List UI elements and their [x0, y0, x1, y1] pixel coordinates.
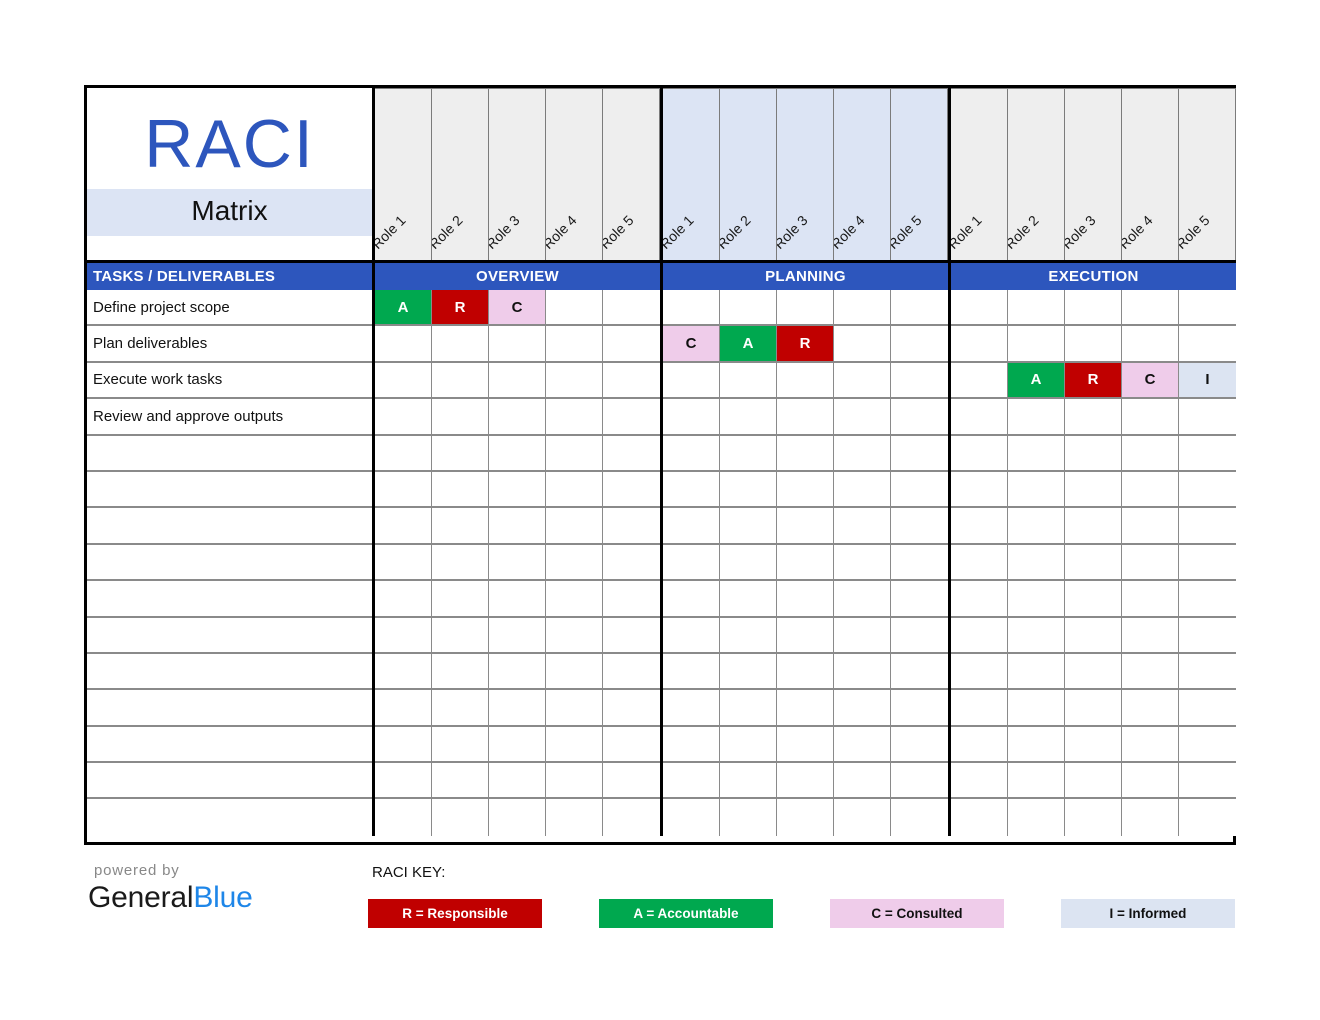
raci-cell[interactable] — [1122, 799, 1179, 835]
raci-cell[interactable] — [1122, 654, 1179, 690]
raci-cell[interactable] — [663, 290, 720, 326]
raci-cell[interactable] — [951, 690, 1008, 726]
subtitle-band: Matrix — [87, 189, 372, 236]
role-header-label: Role 4 — [1122, 212, 1156, 252]
raci-cell[interactable] — [777, 763, 834, 799]
raci-cell[interactable] — [891, 290, 948, 326]
raci-cell[interactable] — [951, 799, 1008, 835]
role-header-label: Role 4 — [546, 212, 580, 252]
raci-cell[interactable] — [1008, 618, 1065, 654]
legend-item-c: C = Consulted — [830, 899, 1004, 928]
raci-cell[interactable] — [1122, 290, 1179, 326]
task-label-cell[interactable] — [87, 508, 372, 544]
role-header-execution-4[interactable]: Role 4 — [1122, 88, 1179, 260]
role-header-planning-1[interactable]: Role 1 — [663, 88, 720, 260]
raci-cell[interactable] — [603, 727, 660, 763]
raci-cell[interactable]: R — [777, 326, 834, 362]
raci-cell[interactable] — [489, 363, 546, 399]
powered-by-label: powered by — [94, 862, 348, 879]
raci-cell[interactable] — [1179, 290, 1236, 326]
role-header-planning-3[interactable]: Role 3 — [777, 88, 834, 260]
raci-cell[interactable] — [1179, 508, 1236, 544]
raci-cell[interactable] — [891, 472, 948, 508]
raci-cell[interactable] — [720, 581, 777, 617]
raci-cell[interactable] — [375, 508, 432, 544]
raci-cell[interactable] — [720, 472, 777, 508]
raci-cell[interactable] — [603, 436, 660, 472]
raci-cell[interactable] — [1065, 472, 1122, 508]
raci-cell[interactable] — [1122, 763, 1179, 799]
raci-cell[interactable] — [1008, 472, 1065, 508]
raci-matrix-page: RACI Matrix Role 1Role 2Role 3Role 4Role… — [0, 0, 1320, 1020]
title-block: RACI Matrix — [87, 88, 372, 260]
role-header-label: Role 1 — [663, 212, 697, 252]
raci-cell[interactable] — [777, 545, 834, 581]
raci-cell[interactable] — [1179, 545, 1236, 581]
raci-cell[interactable] — [1065, 654, 1122, 690]
raci-cell[interactable] — [1065, 763, 1122, 799]
raci-cell[interactable] — [663, 545, 720, 581]
role-header-execution-1[interactable]: Role 1 — [951, 88, 1008, 260]
raci-cell[interactable] — [663, 363, 720, 399]
role-header-planning-4[interactable]: Role 4 — [834, 88, 891, 260]
raci-cell[interactable] — [891, 763, 948, 799]
raci-cell[interactable] — [375, 399, 432, 435]
raci-cell[interactable] — [891, 545, 948, 581]
raci-cell[interactable] — [663, 436, 720, 472]
raci-cell[interactable] — [777, 399, 834, 435]
raci-cell[interactable] — [720, 618, 777, 654]
raci-cell[interactable] — [489, 436, 546, 472]
raci-cell[interactable] — [891, 363, 948, 399]
raci-cell[interactable] — [603, 799, 660, 835]
raci-cell[interactable] — [891, 618, 948, 654]
raci-cell[interactable] — [432, 763, 489, 799]
role-header-label: Role 2 — [720, 212, 754, 252]
legend-item-i: I = Informed — [1061, 899, 1235, 928]
raci-cell[interactable] — [546, 690, 603, 726]
raci-cell[interactable] — [432, 727, 489, 763]
raci-cell[interactable] — [1008, 654, 1065, 690]
raci-cell[interactable] — [546, 545, 603, 581]
raci-cell[interactable] — [1179, 399, 1236, 435]
raci-cell[interactable] — [663, 581, 720, 617]
raci-cell[interactable] — [432, 363, 489, 399]
raci-cell[interactable]: A — [720, 326, 777, 362]
raci-cell[interactable] — [489, 326, 546, 362]
task-label-cell[interactable] — [87, 618, 372, 654]
raci-cell[interactable] — [834, 399, 891, 435]
group-header-planning: PLANNING — [663, 263, 948, 290]
brand-name-first: General — [88, 881, 193, 914]
raci-cell[interactable] — [375, 727, 432, 763]
role-header-overview-5[interactable]: Role 5 — [603, 88, 660, 260]
raci-cell[interactable] — [891, 436, 948, 472]
raci-cell[interactable] — [603, 690, 660, 726]
raci-cell[interactable] — [1122, 436, 1179, 472]
raci-cell[interactable] — [432, 508, 489, 544]
raci-cell[interactable] — [603, 399, 660, 435]
raci-cell[interactable] — [1122, 326, 1179, 362]
raci-cell[interactable] — [663, 654, 720, 690]
raci-cell[interactable] — [720, 436, 777, 472]
raci-cell[interactable] — [1122, 399, 1179, 435]
raci-cell[interactable] — [1179, 581, 1236, 617]
raci-cell[interactable] — [603, 581, 660, 617]
raci-cell[interactable] — [546, 399, 603, 435]
role-header-label: Role 2 — [432, 212, 466, 252]
brand-logo: powered by GeneralBlue — [88, 862, 348, 915]
task-label-cell[interactable] — [87, 690, 372, 726]
role-header-label: Role 3 — [777, 212, 811, 252]
task-label-cell[interactable]: Execute work tasks — [87, 363, 372, 399]
raci-cell[interactable] — [1065, 436, 1122, 472]
raci-cell[interactable] — [1179, 690, 1236, 726]
legend-spacer — [1004, 899, 1061, 928]
raci-cell[interactable] — [1008, 399, 1065, 435]
raci-cell[interactable] — [834, 690, 891, 726]
raci-cell[interactable] — [432, 618, 489, 654]
raci-cell[interactable] — [777, 508, 834, 544]
raci-cell[interactable] — [603, 654, 660, 690]
raci-cell[interactable] — [891, 399, 948, 435]
raci-cell[interactable] — [720, 545, 777, 581]
raci-legend: R = ResponsibleA = AccountableC = Consul… — [368, 899, 1238, 928]
raci-cell[interactable] — [720, 799, 777, 835]
raci-cell[interactable] — [1065, 508, 1122, 544]
raci-cell[interactable] — [720, 690, 777, 726]
role-header-label: Role 3 — [489, 212, 523, 252]
raci-cell[interactable] — [720, 727, 777, 763]
task-label-cell[interactable]: Review and approve outputs — [87, 399, 372, 435]
raci-cell[interactable] — [546, 436, 603, 472]
raci-cell[interactable] — [489, 508, 546, 544]
raci-cell[interactable] — [1008, 690, 1065, 726]
page-subtitle: Matrix — [191, 195, 267, 226]
raci-cell[interactable] — [375, 545, 432, 581]
raci-cell[interactable] — [1122, 690, 1179, 726]
raci-cell[interactable] — [546, 618, 603, 654]
raci-cell[interactable] — [951, 363, 1008, 399]
raci-cell[interactable] — [603, 545, 660, 581]
raci-cell[interactable] — [489, 399, 546, 435]
raci-cell[interactable] — [375, 363, 432, 399]
raci-cell[interactable] — [432, 472, 489, 508]
raci-cell[interactable] — [951, 399, 1008, 435]
raci-cell[interactable] — [891, 727, 948, 763]
task-label-cell[interactable] — [87, 581, 372, 617]
role-header-label: Role 5 — [891, 212, 925, 252]
raci-cell[interactable] — [546, 472, 603, 508]
raci-cell[interactable] — [603, 763, 660, 799]
task-label-cell[interactable] — [87, 472, 372, 508]
raci-cell[interactable] — [1179, 326, 1236, 362]
raci-cell[interactable] — [432, 399, 489, 435]
role-header-label: Role 2 — [1008, 212, 1042, 252]
raci-cell[interactable] — [663, 727, 720, 763]
raci-cell[interactable] — [1122, 581, 1179, 617]
raci-cell[interactable] — [1065, 545, 1122, 581]
raci-cell[interactable] — [777, 436, 834, 472]
raci-cell[interactable] — [1122, 545, 1179, 581]
raci-cell[interactable] — [777, 799, 834, 835]
role-header-overview-1[interactable]: Role 1 — [375, 88, 432, 260]
raci-cell[interactable] — [1008, 290, 1065, 326]
raci-cell[interactable] — [1179, 799, 1236, 835]
brand-name: GeneralBlue — [88, 881, 348, 915]
raci-cell[interactable] — [603, 508, 660, 544]
raci-cell[interactable] — [1065, 690, 1122, 726]
raci-cell[interactable] — [546, 727, 603, 763]
raci-cell[interactable] — [834, 363, 891, 399]
raci-cell[interactable] — [1179, 618, 1236, 654]
raci-cell[interactable] — [1065, 399, 1122, 435]
raci-cell[interactable] — [777, 472, 834, 508]
raci-cell[interactable] — [891, 581, 948, 617]
raci-cell[interactable] — [1179, 727, 1236, 763]
raci-cell[interactable] — [1008, 545, 1065, 581]
raci-cell[interactable] — [891, 799, 948, 835]
group-header-execution: EXECUTION — [951, 263, 1236, 290]
raci-cell[interactable] — [777, 727, 834, 763]
role-header-label: Role 1 — [375, 212, 409, 252]
raci-cell[interactable] — [720, 654, 777, 690]
raci-cell[interactable]: C — [663, 326, 720, 362]
raci-cell[interactable] — [432, 690, 489, 726]
group-header-overview: OVERVIEW — [375, 263, 660, 290]
raci-cell[interactable] — [489, 799, 546, 835]
raci-cell[interactable] — [603, 618, 660, 654]
raci-cell[interactable] — [546, 290, 603, 326]
task-label-cell[interactable]: Plan deliverables — [87, 326, 372, 362]
raci-cell[interactable] — [1179, 436, 1236, 472]
raci-cell[interactable] — [834, 799, 891, 835]
raci-cell[interactable] — [834, 763, 891, 799]
raci-cell[interactable] — [375, 799, 432, 835]
raci-cell[interactable] — [1008, 326, 1065, 362]
raci-cell[interactable] — [1008, 727, 1065, 763]
raci-cell[interactable] — [951, 436, 1008, 472]
raci-cell[interactable] — [603, 290, 660, 326]
matrix-grid: RACI Matrix Role 1Role 2Role 3Role 4Role… — [87, 88, 1233, 842]
raci-cell[interactable] — [720, 763, 777, 799]
raci-cell[interactable] — [777, 690, 834, 726]
raci-cell[interactable] — [777, 654, 834, 690]
legend-spacer — [542, 899, 599, 928]
raci-cell[interactable] — [1179, 654, 1236, 690]
raci-cell[interactable] — [951, 581, 1008, 617]
role-header-execution-2[interactable]: Role 2 — [1008, 88, 1065, 260]
raci-cell[interactable] — [663, 799, 720, 835]
raci-cell[interactable]: A — [375, 290, 432, 326]
raci-cell[interactable] — [546, 326, 603, 362]
role-header-label: Role 5 — [1179, 212, 1213, 252]
raci-cell[interactable] — [777, 581, 834, 617]
raci-cell[interactable] — [891, 690, 948, 726]
tasks-deliverables-header: TASKS / DELIVERABLES — [87, 263, 372, 290]
task-label-cell[interactable] — [87, 654, 372, 690]
raci-cell[interactable] — [603, 363, 660, 399]
raci-cell[interactable] — [834, 290, 891, 326]
raci-cell[interactable] — [951, 290, 1008, 326]
raci-cell[interactable] — [663, 618, 720, 654]
raci-cell[interactable] — [432, 799, 489, 835]
role-header-execution-5[interactable]: Role 5 — [1179, 88, 1236, 260]
raci-cell[interactable] — [834, 618, 891, 654]
raci-cell[interactable] — [951, 618, 1008, 654]
legend-item-r: R = Responsible — [368, 899, 542, 928]
raci-cell[interactable] — [720, 399, 777, 435]
raci-cell[interactable] — [951, 326, 1008, 362]
raci-cell[interactable] — [1179, 472, 1236, 508]
raci-cell[interactable] — [951, 472, 1008, 508]
raci-cell[interactable] — [489, 545, 546, 581]
raci-cell[interactable] — [777, 363, 834, 399]
raci-cell[interactable] — [375, 436, 432, 472]
raci-cell[interactable] — [834, 727, 891, 763]
raci-cell[interactable] — [432, 436, 489, 472]
raci-cell[interactable] — [1008, 581, 1065, 617]
raci-cell[interactable] — [375, 326, 432, 362]
raci-cell[interactable] — [1065, 727, 1122, 763]
raci-cell[interactable] — [1122, 618, 1179, 654]
raci-cell[interactable] — [546, 763, 603, 799]
raci-cell[interactable] — [834, 326, 891, 362]
raci-cell[interactable] — [489, 690, 546, 726]
raci-cell[interactable] — [720, 290, 777, 326]
raci-cell[interactable] — [663, 399, 720, 435]
raci-cell[interactable] — [663, 472, 720, 508]
raci-cell[interactable] — [432, 581, 489, 617]
raci-cell[interactable] — [489, 472, 546, 508]
role-header-label: Role 4 — [834, 212, 868, 252]
raci-cell[interactable] — [1065, 326, 1122, 362]
raci-cell[interactable] — [432, 545, 489, 581]
raci-cell[interactable] — [951, 763, 1008, 799]
raci-cell[interactable] — [951, 508, 1008, 544]
raci-cell[interactable] — [1065, 618, 1122, 654]
raci-cell[interactable] — [603, 326, 660, 362]
legend-spacer — [773, 899, 830, 928]
raci-cell[interactable] — [1008, 436, 1065, 472]
raci-cell[interactable] — [951, 545, 1008, 581]
raci-cell[interactable] — [720, 508, 777, 544]
raci-cell[interactable] — [375, 618, 432, 654]
raci-cell[interactable]: I — [1179, 363, 1236, 399]
role-header-execution-3[interactable]: Role 3 — [1065, 88, 1122, 260]
role-header-overview-4[interactable]: Role 4 — [546, 88, 603, 260]
raci-key-title: RACI KEY: — [372, 864, 445, 881]
raci-cell[interactable] — [834, 436, 891, 472]
raci-cell[interactable] — [834, 581, 891, 617]
raci-cell[interactable] — [546, 581, 603, 617]
raci-cell[interactable]: C — [1122, 363, 1179, 399]
role-header-label: Role 5 — [603, 212, 637, 252]
task-label-cell[interactable] — [87, 727, 372, 763]
raci-cell[interactable]: R — [432, 290, 489, 326]
raci-cell[interactable] — [375, 581, 432, 617]
raci-cell[interactable] — [1122, 472, 1179, 508]
raci-cell[interactable] — [1065, 581, 1122, 617]
task-label-cell[interactable] — [87, 799, 372, 835]
task-label-cell[interactable] — [87, 436, 372, 472]
raci-cell[interactable] — [375, 654, 432, 690]
role-header-planning-2[interactable]: Role 2 — [720, 88, 777, 260]
page-title: RACI — [144, 110, 314, 178]
task-label-cell[interactable] — [87, 545, 372, 581]
raci-cell[interactable] — [891, 508, 948, 544]
raci-cell[interactable] — [834, 654, 891, 690]
raci-cell[interactable]: R — [1065, 363, 1122, 399]
raci-cell[interactable] — [834, 472, 891, 508]
role-header-overview-3[interactable]: Role 3 — [489, 88, 546, 260]
raci-cell[interactable] — [1008, 763, 1065, 799]
raci-cell[interactable] — [489, 763, 546, 799]
role-header-planning-5[interactable]: Role 5 — [891, 88, 948, 260]
raci-cell[interactable] — [546, 508, 603, 544]
raci-cell[interactable] — [546, 654, 603, 690]
raci-cell[interactable] — [489, 654, 546, 690]
raci-cell[interactable] — [1008, 508, 1065, 544]
role-header-label: Role 1 — [951, 212, 985, 252]
raci-cell[interactable] — [375, 690, 432, 726]
raci-cell[interactable] — [546, 799, 603, 835]
raci-cell[interactable] — [777, 618, 834, 654]
raci-cell[interactable] — [834, 545, 891, 581]
raci-cell[interactable] — [891, 654, 948, 690]
raci-cell[interactable] — [1008, 799, 1065, 835]
raci-cell[interactable] — [1122, 727, 1179, 763]
raci-cell[interactable] — [546, 363, 603, 399]
role-header-label: Role 3 — [1065, 212, 1099, 252]
raci-cell[interactable] — [489, 581, 546, 617]
task-label-cell[interactable] — [87, 763, 372, 799]
raci-cell[interactable] — [432, 654, 489, 690]
raci-cell[interactable] — [663, 690, 720, 726]
raci-cell[interactable] — [489, 618, 546, 654]
raci-cell[interactable] — [375, 472, 432, 508]
raci-cell[interactable] — [891, 326, 948, 362]
raci-cell[interactable] — [834, 508, 891, 544]
raci-cell[interactable] — [603, 472, 660, 508]
raci-cell[interactable] — [1179, 763, 1236, 799]
raci-cell[interactable] — [1122, 508, 1179, 544]
raci-cell[interactable] — [663, 763, 720, 799]
role-header-overview-2[interactable]: Role 2 — [432, 88, 489, 260]
brand-name-second: Blue — [193, 881, 252, 914]
raci-cell[interactable] — [1065, 290, 1122, 326]
raci-cell[interactable]: A — [1008, 363, 1065, 399]
raci-cell[interactable] — [720, 363, 777, 399]
raci-cell[interactable]: C — [489, 290, 546, 326]
raci-cell[interactable] — [432, 326, 489, 362]
raci-cell[interactable] — [1065, 799, 1122, 835]
task-label-cell[interactable]: Define project scope — [87, 290, 372, 326]
raci-cell[interactable] — [951, 727, 1008, 763]
raci-cell[interactable] — [951, 654, 1008, 690]
raci-cell[interactable] — [777, 290, 834, 326]
raci-cell[interactable] — [489, 727, 546, 763]
raci-cell[interactable] — [663, 508, 720, 544]
raci-cell[interactable] — [375, 763, 432, 799]
legend-item-a: A = Accountable — [599, 899, 773, 928]
matrix-table: RACI Matrix Role 1Role 2Role 3Role 4Role… — [84, 85, 1236, 845]
